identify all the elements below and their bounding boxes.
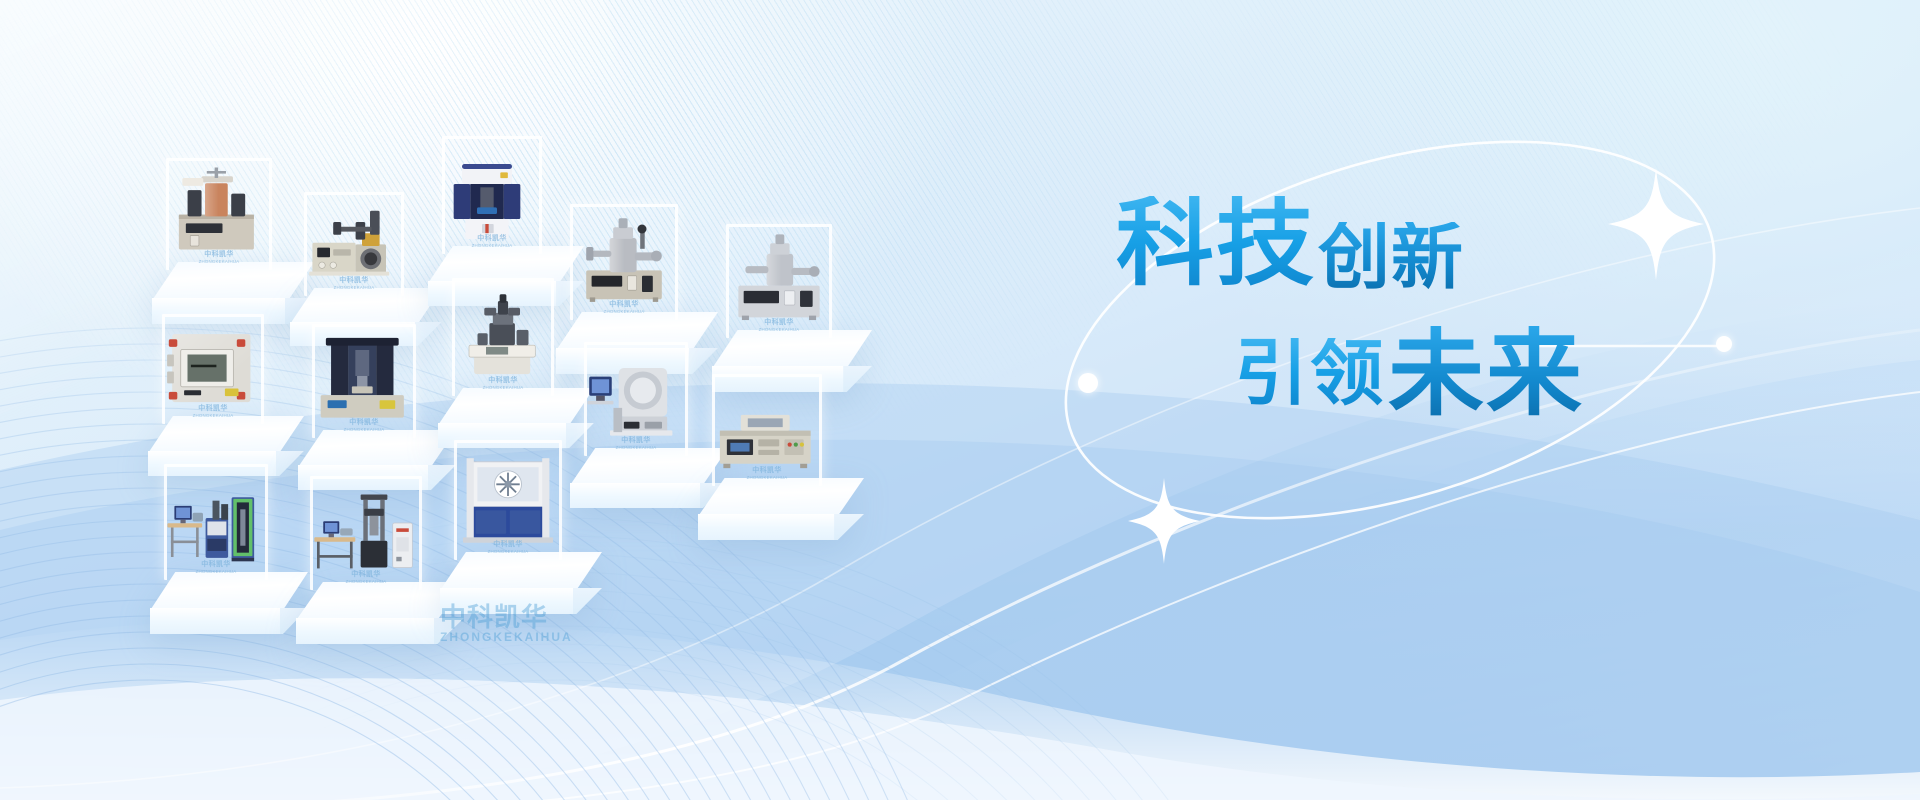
watermark-en: ZHONGKEKAIHUA bbox=[346, 579, 387, 584]
product-watermark: 中科凯华ZHONGKEKAIHUA bbox=[483, 377, 524, 390]
product-plinth bbox=[440, 552, 602, 614]
watermark-cn: 中科凯华 bbox=[196, 561, 237, 569]
product-image bbox=[162, 320, 264, 414]
watermark-cn: 中科凯华 bbox=[344, 419, 385, 427]
product-watermark: 中科凯华ZHONGKEKAIHUA bbox=[199, 251, 240, 264]
headline-line-1: 科技创新 bbox=[1118, 196, 1838, 292]
product-image bbox=[712, 380, 822, 476]
watermark-cn: 中科凯华 bbox=[747, 467, 788, 475]
product-watermark: 中科凯华ZHONGKEKAIHUA bbox=[193, 405, 234, 418]
headline-line1-tail: 创新 bbox=[1318, 222, 1464, 294]
watermark-cn: 中科凯华 bbox=[346, 571, 387, 579]
product-image bbox=[164, 470, 268, 570]
product-image bbox=[452, 284, 554, 386]
watermark-en: ZHONGKEKAIHUA bbox=[196, 569, 237, 574]
product-image bbox=[442, 142, 542, 244]
orbit-dot-left bbox=[1078, 373, 1098, 393]
headline-line2-lead: 引领 bbox=[1235, 338, 1386, 410]
product-watermark: 中科凯华ZHONGKEKAIHUA bbox=[488, 541, 529, 554]
product-plinth bbox=[150, 572, 308, 634]
watermark-cn: 中科凯华 bbox=[488, 541, 529, 549]
watermark-en: ZHONGKEKAIHUA bbox=[483, 385, 524, 390]
product-watermark: 中科凯华ZHONGKEKAIHUA bbox=[747, 467, 788, 480]
watermark-en: ZHONGKEKAIHUA bbox=[199, 259, 240, 264]
watermark-en: ZHONGKEKAIHUA bbox=[488, 549, 529, 554]
hero-banner: 中科凯华ZHONGKEKAIHUA bbox=[0, 0, 1920, 800]
watermark-cn: 中科凯华 bbox=[759, 319, 800, 327]
headline-line1-lead: 科技 bbox=[1116, 196, 1316, 292]
product-plinth bbox=[698, 478, 864, 540]
watermark-cn: 中科凯华 bbox=[483, 377, 524, 385]
product-image bbox=[310, 482, 422, 580]
sparkle-small-icon bbox=[1128, 478, 1200, 564]
product-image bbox=[312, 330, 416, 428]
product-image bbox=[166, 164, 272, 260]
product-watermark: 中科凯华ZHONGKEKAIHUA bbox=[196, 561, 237, 574]
product-pod[interactable]: 中科凯华ZHONGKEKAIHUA bbox=[440, 392, 622, 614]
product-watermark: 中科凯华ZHONGKEKAIHUA bbox=[346, 571, 387, 584]
watermark-en: ZHONGKEKAIHUA bbox=[747, 475, 788, 480]
headline-line2-tail: 未来 bbox=[1388, 326, 1584, 422]
product-plinth bbox=[296, 582, 464, 644]
product-pod[interactable]: 中科凯华ZHONGKEKAIHUA bbox=[698, 328, 884, 540]
watermark-cn: 中科凯华 bbox=[193, 405, 234, 413]
headline-block: 科技创新 引领未来 bbox=[1118, 196, 1838, 414]
headline-line-2: 引领未来 bbox=[1118, 318, 1838, 414]
product-image bbox=[454, 446, 562, 550]
watermark-cn: 中科凯华 bbox=[199, 251, 240, 259]
